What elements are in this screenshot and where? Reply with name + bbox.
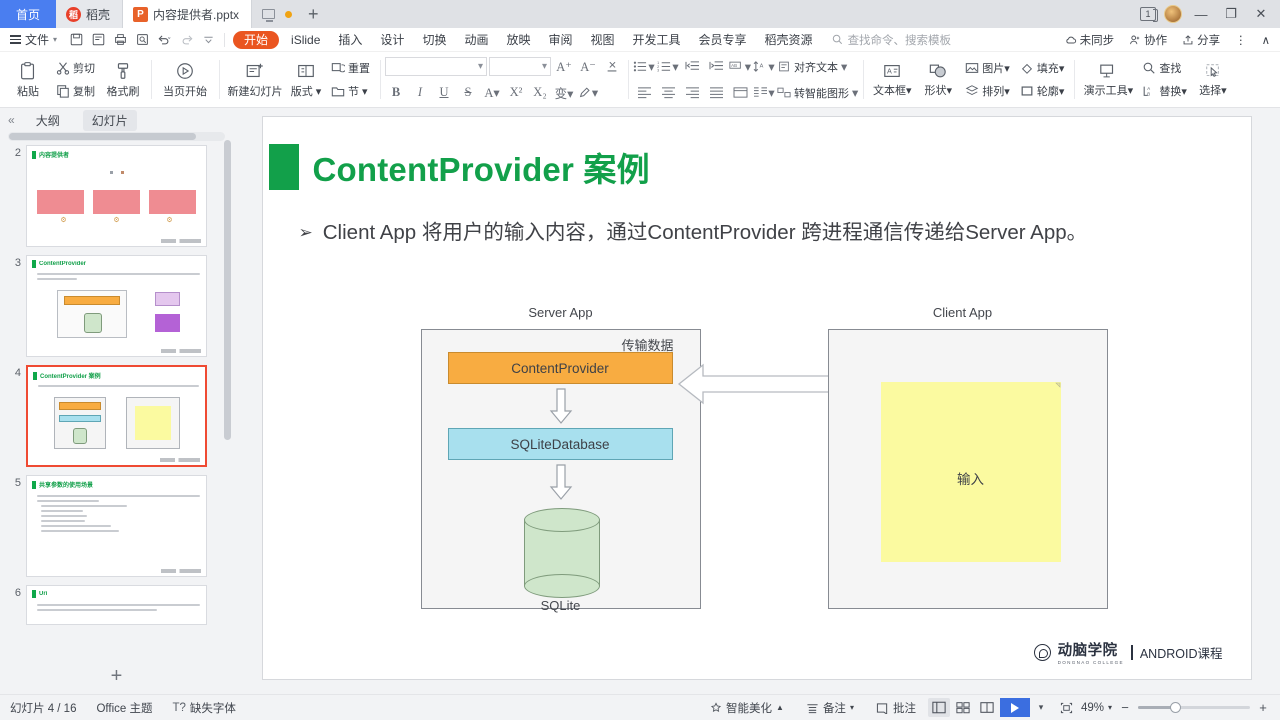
fill-button[interactable]: 填充▾ bbox=[1017, 57, 1068, 79]
save-icon[interactable] bbox=[66, 30, 86, 50]
thumb-box-a bbox=[155, 292, 180, 306]
dongnao-mark-icon bbox=[1034, 644, 1051, 661]
title-accent-bar bbox=[32, 151, 36, 159]
thumb-title-row: 内容提供者 bbox=[27, 146, 206, 159]
menu-tab-review-label: 审阅 bbox=[548, 31, 572, 48]
slide-diagram[interactable]: Server App Client App ContentProvider SQ… bbox=[263, 313, 1251, 633]
footer-divider bbox=[1131, 645, 1133, 660]
title-accent-bar bbox=[32, 590, 36, 598]
menu-tab-start-label: 开始 bbox=[244, 31, 268, 48]
svg-text:3: 3 bbox=[657, 69, 659, 73]
tab-slides[interactable]: 幻灯片 bbox=[83, 110, 137, 131]
drawing-small-buttons: 图片▾ 排列▾ bbox=[960, 55, 1015, 104]
menu-tab-developer[interactable]: 开发工具 bbox=[624, 28, 690, 52]
collapse-panel-button[interactable]: « bbox=[8, 113, 13, 127]
svg-text:A: A bbox=[760, 63, 764, 69]
server-app-caption: Server App bbox=[421, 305, 701, 320]
ribbon-group-clipboard: 粘贴 剪切 复制 bbox=[0, 52, 151, 107]
panel-vertical-scrollbar[interactable] bbox=[224, 108, 231, 694]
title-accent-bar bbox=[32, 481, 36, 489]
clipboard-small-buttons: 剪切 复制 bbox=[51, 55, 100, 104]
format-painter-icon bbox=[113, 61, 133, 81]
footer-brand-sub: DONGNAO COLLEGE bbox=[1058, 660, 1124, 665]
collaborate-icon bbox=[1129, 34, 1141, 46]
font-row-bottom: B I U S A▾ X² X₂ 变▾ ▾ bbox=[385, 81, 623, 104]
thumb-client-panel bbox=[126, 397, 180, 449]
numbering-icon[interactable]: 123▾ bbox=[657, 56, 679, 78]
arrow-down-icon bbox=[546, 388, 576, 426]
menu-tab-islide-label: iSlide bbox=[291, 33, 320, 47]
thumb-footer-logo bbox=[161, 239, 201, 243]
start-slideshow-button[interactable] bbox=[1000, 698, 1030, 717]
footer-brand-name: 动脑学院 DONGNAO COLLEGE bbox=[1058, 639, 1124, 665]
layout-button[interactable]: 版式 ▾ bbox=[286, 55, 326, 104]
menu-tab-member[interactable]: 会员专享 bbox=[690, 28, 756, 52]
tab-home-label: 首页 bbox=[16, 6, 40, 23]
new-slide-label: 新建幻灯片 bbox=[228, 83, 283, 99]
slide-number: 3 bbox=[4, 255, 21, 269]
cylinder-bottom bbox=[524, 574, 600, 598]
thumb-title: ContentProvider bbox=[39, 261, 86, 267]
ribbon-group-paragraph: ▾ 123▾ AB▾ A▾ bbox=[628, 52, 863, 107]
title-accent-bar bbox=[32, 260, 36, 268]
outline-button[interactable]: 轮廓▾ bbox=[1017, 81, 1068, 103]
decrease-indent-icon[interactable] bbox=[681, 56, 703, 78]
slide-title-row[interactable]: ContentProvider 案例 bbox=[263, 117, 1251, 191]
command-search-placeholder: 查找命令、搜索模板 bbox=[848, 32, 952, 48]
slide-thumbnail-6[interactable]: Uri bbox=[26, 585, 207, 625]
window-count-badge[interactable]: 1 bbox=[1140, 7, 1156, 21]
copy-icon bbox=[56, 84, 70, 98]
list-item[interactable]: 6 Uri bbox=[4, 585, 233, 625]
zoom-slider[interactable] bbox=[1136, 706, 1252, 709]
tab-outline[interactable]: 大纲 bbox=[27, 110, 69, 131]
more-options-button[interactable]: ⋮ bbox=[1229, 33, 1253, 47]
shapes-label: 形状▾ bbox=[925, 82, 953, 98]
menu-tab-design[interactable]: 设计 bbox=[371, 28, 413, 52]
thumb-server-panel bbox=[54, 397, 106, 449]
find-button[interactable]: 查找 bbox=[1139, 57, 1190, 79]
paragraph-row-top: ▾ 123▾ AB▾ A▾ bbox=[633, 55, 858, 78]
thumb-footer-logo bbox=[160, 458, 200, 462]
textbox-button[interactable]: A 文本框▾ bbox=[868, 55, 916, 104]
menu-tab-developer-label: 开发工具 bbox=[633, 31, 681, 48]
svg-text:AB: AB bbox=[731, 63, 737, 68]
present-tools-icon bbox=[1098, 62, 1118, 80]
collaborate-button[interactable]: 协作 bbox=[1123, 32, 1173, 48]
thumb-panel bbox=[57, 290, 127, 338]
shapes-icon bbox=[928, 62, 948, 80]
window-controls: 1 — ❐ ✕ bbox=[1140, 0, 1280, 28]
font-size-select[interactable]: ▾ bbox=[489, 57, 551, 76]
maximize-button[interactable]: ❐ bbox=[1220, 4, 1242, 24]
title-accent-bar bbox=[269, 144, 299, 190]
collapse-ribbon-button[interactable]: ∧ bbox=[1256, 33, 1276, 47]
slide-sorter-icon[interactable] bbox=[952, 698, 974, 717]
server-app-panel: ContentProvider SQLiteDatabase bbox=[421, 329, 701, 609]
superscript-icon[interactable]: X² bbox=[505, 82, 527, 104]
smart-beautify-button[interactable]: 智能美化 ▲ bbox=[700, 700, 794, 716]
textbox-label: 文本框▾ bbox=[873, 82, 912, 98]
svg-text:A: A bbox=[1148, 86, 1151, 91]
input-note[interactable]: 输入 bbox=[881, 382, 1061, 562]
tab-bar-tools: + bbox=[262, 0, 319, 28]
sync-status-button[interactable]: 未同步 bbox=[1059, 32, 1121, 48]
reset-icon bbox=[331, 61, 345, 75]
copy-button[interactable]: 复制 bbox=[53, 81, 98, 103]
normal-view-icon[interactable] bbox=[928, 698, 950, 717]
zoom-slider-handle[interactable] bbox=[1170, 702, 1181, 713]
chevron-down-icon: ▾ bbox=[850, 703, 854, 712]
menu-tab-member-label: 会员专享 bbox=[699, 31, 747, 48]
bullet-text: Client App 将用户的输入内容，通过ContentProvider 跨进… bbox=[323, 219, 1087, 247]
status-bar: 幻灯片 4 / 16 Office 主题 T? 缺失字体 智能美化 ▲ 备注 ▾… bbox=[0, 694, 1280, 720]
status-bar-right: 智能美化 ▲ 备注 ▾ 批注 ▾ bbox=[700, 698, 1280, 717]
customize-quick-access-icon[interactable] bbox=[198, 30, 218, 50]
ribbon-group-drawing: A 文本框▾ 形状▾ 图片▾ bbox=[863, 52, 1074, 107]
sqlite-label: SQLite bbox=[422, 598, 700, 613]
align-center-icon[interactable] bbox=[657, 82, 679, 104]
thumb-title: 内容提供者 bbox=[39, 150, 69, 159]
title-accent-bar bbox=[33, 372, 37, 380]
thumb-top-icons bbox=[110, 171, 124, 174]
drawing-small-buttons-2: 填充▾ 轮廓▾ bbox=[1015, 55, 1070, 104]
collaborate-label: 协作 bbox=[1144, 32, 1167, 48]
align-text-button[interactable]: 对齐文本▾ bbox=[777, 56, 847, 78]
section-icon bbox=[331, 84, 345, 98]
menu-tab-animation[interactable]: 动画 bbox=[455, 28, 497, 52]
ribbon-toolbar: 粘贴 剪切 复制 bbox=[0, 52, 1280, 108]
comment-label: 批注 bbox=[893, 700, 916, 716]
chevron-down-icon: ▾ bbox=[1108, 703, 1112, 712]
notes-icon bbox=[806, 702, 819, 714]
section-button[interactable]: 节 ▾ bbox=[328, 81, 373, 103]
caret-up-icon: ▲ bbox=[776, 703, 784, 712]
work-area: « 大纲 幻灯片 2 内容提供者 bbox=[0, 108, 1280, 694]
ribbon-group-editing: 演示工具▾ 查找 AB 替换▾ bbox=[1074, 52, 1239, 107]
font-row-top: ▾ ▾ A⁺ A⁻ bbox=[385, 55, 623, 78]
comment-button[interactable]: 批注 bbox=[866, 700, 926, 716]
thumb-title: 共享参数的使用场景 bbox=[39, 480, 93, 489]
convert-to-smartart-button[interactable]: 转智能图形▾ bbox=[777, 82, 858, 104]
input-note-label: 输入 bbox=[881, 468, 1061, 488]
bold-icon[interactable]: B bbox=[385, 82, 407, 104]
beautify-icon bbox=[710, 702, 722, 714]
bullet-marker-icon: ➢ bbox=[299, 219, 313, 247]
copy-label: 复制 bbox=[73, 83, 95, 99]
search-icon bbox=[832, 34, 843, 45]
slide-number: 2 bbox=[4, 145, 21, 159]
select-button[interactable]: 选择▾ bbox=[1192, 55, 1234, 104]
file-menu-button[interactable]: 文件 ▾ bbox=[0, 31, 65, 48]
thumb-footer-logo bbox=[161, 349, 201, 353]
notes-label: 备注 bbox=[823, 700, 846, 716]
text-effects-icon[interactable]: 变▾ bbox=[553, 82, 575, 104]
increase-font-size-icon[interactable]: A⁺ bbox=[553, 56, 575, 78]
menu-tab-view[interactable]: 视图 bbox=[582, 28, 624, 52]
paste-label: 粘贴 bbox=[17, 83, 39, 99]
select-label: 选择▾ bbox=[1199, 82, 1227, 98]
clear-format-icon[interactable] bbox=[601, 56, 623, 78]
format-painter-label: 格式刷 bbox=[107, 83, 140, 99]
replace-label: 替换▾ bbox=[1159, 83, 1187, 99]
arrow-down-icon bbox=[546, 464, 576, 502]
sync-status-label: 未同步 bbox=[1080, 32, 1115, 48]
avatar[interactable] bbox=[1164, 5, 1182, 23]
textbox-icon: A bbox=[882, 62, 902, 80]
current-slide[interactable]: ContentProvider 案例 ➢ Client App 将用户的输入内容… bbox=[262, 116, 1252, 680]
menu-tab-docer-label: 稻壳资源 bbox=[765, 31, 813, 48]
select-icon bbox=[1203, 62, 1223, 80]
slide-thumbnail-4-selected[interactable]: ContentProvider 案例 bbox=[26, 365, 207, 467]
smart-beautify-label: 智能美化 bbox=[726, 700, 772, 716]
slide-thumbnail-3[interactable]: ContentProvider bbox=[26, 255, 207, 357]
tab-file-label: 内容提供者.pptx bbox=[153, 6, 239, 23]
find-label: 查找 bbox=[1159, 60, 1181, 76]
comment-icon bbox=[876, 702, 889, 714]
menu-bar: 文件 ▾ 开始 iSlide 插入 设计 切换 动画 bbox=[0, 28, 1280, 52]
arrange-icon bbox=[965, 84, 979, 98]
menu-tab-design-label: 设计 bbox=[380, 31, 404, 48]
missing-font-icon: T? bbox=[173, 702, 186, 714]
fit-slide-button[interactable] bbox=[1052, 702, 1077, 714]
minimize-button[interactable]: — bbox=[1190, 4, 1212, 24]
share-button[interactable]: 分享 bbox=[1176, 32, 1226, 48]
missing-font-label: 缺失字体 bbox=[190, 700, 236, 716]
footer-brand-cn: 动脑学院 bbox=[1058, 643, 1118, 659]
slide-bullet[interactable]: ➢ Client App 将用户的输入内容，通过ContentProvider … bbox=[263, 191, 1251, 247]
undo-icon[interactable] bbox=[154, 30, 174, 50]
font-controls: ▾ ▾ A⁺ A⁻ B I U S A▾ X² X₂ 变▾ bbox=[385, 55, 623, 104]
picture-button[interactable]: 图片▾ bbox=[962, 57, 1013, 79]
close-button[interactable]: ✕ bbox=[1250, 4, 1272, 24]
play-circle-icon bbox=[175, 61, 195, 81]
start-from-current-label: 当页开始 bbox=[163, 83, 207, 99]
thumb-title-row: ContentProvider bbox=[27, 256, 206, 268]
fit-slide-icon bbox=[1060, 702, 1073, 714]
panel-horizontal-scrollbar[interactable] bbox=[8, 132, 225, 141]
redo-icon[interactable] bbox=[176, 30, 196, 50]
fill-icon bbox=[1020, 61, 1034, 75]
menu-right-actions: 未同步 协作 分享 ⋮ ∧ bbox=[1059, 32, 1280, 48]
align-right-icon[interactable] bbox=[681, 82, 703, 104]
slideshow-dropdown-icon[interactable]: ▾ bbox=[1032, 702, 1050, 713]
zoom-level[interactable]: 49% ▾ bbox=[1079, 702, 1114, 714]
note-fold-icon bbox=[1048, 381, 1062, 395]
tab-home[interactable]: 首页 bbox=[0, 0, 56, 28]
missing-font-status[interactable]: T? 缺失字体 bbox=[163, 700, 246, 716]
distribute-icon[interactable] bbox=[729, 82, 751, 104]
list-item[interactable]: 2 内容提供者 ⚙⚙ bbox=[4, 145, 233, 247]
slide-footer-logo: 动脑学院 DONGNAO COLLEGE ANDROID课程 bbox=[1034, 639, 1223, 665]
thumb-title-row: 共享参数的使用场景 bbox=[27, 476, 206, 489]
slide-number: 5 bbox=[4, 475, 21, 489]
tab-presentation-file[interactable]: P 内容提供者.pptx bbox=[123, 0, 252, 28]
sqlite-database-label: SQLiteDatabase bbox=[510, 437, 609, 452]
file-menu-label: 文件 bbox=[25, 31, 49, 48]
section-label: 节 ▾ bbox=[348, 83, 368, 99]
outline-label: 轮廓▾ bbox=[1037, 83, 1065, 99]
new-slide-button[interactable]: 新建幻灯片 bbox=[224, 55, 286, 104]
sqlite-database-box[interactable]: SQLiteDatabase bbox=[448, 428, 673, 460]
print-preview-icon[interactable] bbox=[132, 30, 152, 50]
ribbon-group-slides: 新建幻灯片 版式 ▾ 重置 节 ▾ bbox=[219, 52, 380, 107]
picture-label: 图片▾ bbox=[982, 60, 1010, 76]
chevron-down-icon: ▾ bbox=[53, 35, 57, 44]
columns-icon[interactable]: ▾ bbox=[753, 82, 775, 104]
shapes-button[interactable]: 形状▾ bbox=[916, 55, 960, 104]
paste-icon bbox=[18, 61, 38, 81]
thumb-title-row: ContentProvider 案例 bbox=[28, 367, 205, 380]
cut-icon bbox=[56, 61, 70, 75]
justify-icon[interactable] bbox=[705, 82, 727, 104]
editing-small-buttons: 查找 AB 替换▾ bbox=[1137, 55, 1192, 104]
underline-icon[interactable]: U bbox=[433, 82, 455, 104]
docer-icon: 稻 bbox=[66, 7, 81, 22]
content-provider-box[interactable]: ContentProvider bbox=[448, 352, 673, 384]
content-provider-label: ContentProvider bbox=[511, 361, 609, 376]
menu-tab-insert[interactable]: 插入 bbox=[329, 28, 371, 52]
list-item[interactable]: 5 共享参数的使用场景 bbox=[4, 475, 233, 577]
screen-icon[interactable] bbox=[262, 9, 275, 19]
slide-counter[interactable]: 幻灯片 4 / 16 bbox=[0, 700, 86, 716]
theme-name[interactable]: Office 主题 bbox=[86, 700, 162, 716]
layout-icon bbox=[296, 61, 316, 81]
align-left-icon[interactable] bbox=[633, 82, 655, 104]
client-app-caption: Client App bbox=[823, 305, 1103, 320]
cylinder-top bbox=[524, 508, 600, 532]
zoom-out-button[interactable]: − bbox=[1116, 700, 1134, 715]
svg-text:B: B bbox=[1148, 92, 1151, 97]
new-tab-button[interactable]: + bbox=[308, 5, 319, 23]
svg-text:A: A bbox=[887, 66, 892, 75]
replace-button[interactable]: AB 替换▾ bbox=[1139, 81, 1190, 103]
text-direction-icon[interactable]: AB▾ bbox=[729, 56, 751, 78]
strikethrough-icon[interactable]: S bbox=[457, 82, 479, 104]
status-dot-icon bbox=[285, 11, 292, 18]
italic-icon[interactable]: I bbox=[409, 82, 431, 104]
share-icon bbox=[1182, 34, 1194, 46]
reset-button[interactable]: 重置 bbox=[328, 57, 373, 79]
command-search[interactable]: 查找命令、搜索模板 bbox=[832, 32, 952, 48]
ribbon-group-present: 当页开始 bbox=[151, 52, 219, 107]
reading-view-icon[interactable] bbox=[976, 698, 998, 717]
convert-to-smartart-label: 转智能图形 bbox=[794, 85, 849, 101]
footer-course-label: ANDROID课程 bbox=[1140, 643, 1223, 662]
slide-editing-area: ContentProvider 案例 ➢ Client App 将用户的输入内容… bbox=[233, 108, 1280, 694]
bullets-icon[interactable]: ▾ bbox=[633, 56, 655, 78]
menu-tab-slideshow[interactable]: 放映 bbox=[497, 28, 539, 52]
slide-panel-header: « 大纲 幻灯片 bbox=[0, 108, 233, 132]
subscript-icon[interactable]: X₂ bbox=[529, 82, 551, 104]
format-painter-button[interactable]: 格式刷 bbox=[100, 55, 146, 104]
zoom-slider-track[interactable] bbox=[1138, 706, 1250, 709]
tab-docer-label: 稻壳 bbox=[86, 6, 110, 23]
add-slide-button[interactable]: + bbox=[0, 663, 233, 694]
page-title: ContentProvider 案例 bbox=[313, 143, 650, 191]
menu-divider bbox=[224, 33, 225, 47]
notes-button[interactable]: 备注 ▾ bbox=[796, 700, 864, 716]
slide-number: 6 bbox=[4, 585, 21, 599]
slide-thumbnail-2[interactable]: 内容提供者 ⚙⚙⚙ bbox=[26, 145, 207, 247]
layout-label: 版式 ▾ bbox=[291, 83, 322, 99]
paragraph-row-bottom: ▾ 转智能图形▾ bbox=[633, 81, 858, 104]
slide-thumbnail-panel: « 大纲 幻灯片 2 内容提供者 bbox=[0, 108, 233, 694]
present-tools-label: 演示工具▾ bbox=[1084, 82, 1134, 98]
search-icon bbox=[1142, 61, 1156, 75]
slide-thumbnail-list: 2 内容提供者 ⚙⚙ bbox=[0, 145, 233, 663]
wps-presentation-window: 首页 稻 稻壳 P 内容提供者.pptx + 1 — ❐ ✕ 文件 ▾ bbox=[0, 0, 1280, 720]
list-item[interactable]: 4 ContentProvider 案例 bbox=[4, 365, 233, 467]
thumb-title-row: Uri bbox=[27, 586, 206, 598]
zoom-in-button[interactable]: + bbox=[1254, 700, 1272, 715]
font-family-select[interactable]: ▾ bbox=[385, 57, 487, 76]
menu-tab-islide[interactable]: iSlide bbox=[282, 28, 329, 52]
play-icon bbox=[1011, 703, 1019, 713]
save-as-icon[interactable] bbox=[88, 30, 108, 50]
tab-docer[interactable]: 稻 稻壳 bbox=[56, 0, 123, 28]
menu-tab-start[interactable]: 开始 bbox=[233, 31, 279, 49]
thumb-cards bbox=[37, 190, 196, 214]
start-from-current-button[interactable]: 当页开始 bbox=[156, 55, 214, 104]
thumb-box-b bbox=[155, 314, 180, 332]
align-text-label: 对齐文本 bbox=[794, 59, 838, 75]
thumb-sub-icons: ⚙⚙⚙ bbox=[37, 216, 196, 224]
present-tools-button[interactable]: 演示工具▾ bbox=[1079, 55, 1137, 104]
menu-tab-insert-label: 插入 bbox=[338, 31, 362, 48]
reset-label: 重置 bbox=[348, 60, 370, 76]
line-spacing-icon[interactable]: A▾ bbox=[753, 56, 775, 78]
list-item[interactable]: 3 ContentProvider bbox=[4, 255, 233, 357]
outline-icon bbox=[1020, 84, 1034, 98]
new-slide-icon bbox=[245, 61, 265, 81]
slides-small-buttons: 重置 节 ▾ bbox=[326, 55, 375, 104]
slide-number: 4 bbox=[4, 365, 21, 379]
fill-label: 填充▾ bbox=[1037, 60, 1065, 76]
menu-tab-slideshow-label: 放映 bbox=[506, 31, 530, 48]
menu-tab-docer-resources[interactable]: 稻壳资源 bbox=[756, 28, 822, 52]
thumb-footer-logo bbox=[161, 569, 201, 573]
highlight-icon[interactable]: ▾ bbox=[577, 82, 599, 104]
cut-label: 剪切 bbox=[73, 60, 95, 76]
cloud-icon bbox=[1065, 34, 1077, 46]
character-shading-icon[interactable]: A▾ bbox=[481, 82, 503, 104]
menu-tab-transition-label: 切换 bbox=[422, 31, 446, 48]
arrange-label: 排列▾ bbox=[982, 83, 1010, 99]
menu-tab-review[interactable]: 审阅 bbox=[539, 28, 581, 52]
paragraph-controls: ▾ 123▾ AB▾ A▾ bbox=[633, 55, 858, 104]
menu-tab-transition[interactable]: 切换 bbox=[413, 28, 455, 52]
increase-indent-icon[interactable] bbox=[705, 56, 727, 78]
thumb-title: Uri bbox=[39, 591, 47, 597]
zoom-level-value: 49% bbox=[1081, 702, 1104, 714]
thumb-title: ContentProvider 案例 bbox=[40, 371, 101, 380]
print-icon[interactable] bbox=[110, 30, 130, 50]
window-tab-bar: 首页 稻 稻壳 P 内容提供者.pptx + 1 — ❐ ✕ bbox=[0, 0, 1280, 28]
client-app-panel: 输入 bbox=[828, 329, 1108, 609]
cut-button[interactable]: 剪切 bbox=[53, 57, 98, 79]
arrange-button[interactable]: 排列▾ bbox=[962, 81, 1013, 103]
decrease-font-size-icon[interactable]: A⁻ bbox=[577, 56, 599, 78]
paste-button[interactable]: 粘贴 bbox=[5, 55, 51, 104]
picture-icon bbox=[965, 61, 979, 75]
hamburger-icon bbox=[10, 35, 21, 43]
share-label: 分享 bbox=[1197, 32, 1220, 48]
menu-tab-view-label: 视图 bbox=[591, 31, 615, 48]
menu-tab-animation-label: 动画 bbox=[464, 31, 488, 48]
replace-icon: AB bbox=[1142, 84, 1156, 98]
slide-thumbnail-5[interactable]: 共享参数的使用场景 bbox=[26, 475, 207, 577]
